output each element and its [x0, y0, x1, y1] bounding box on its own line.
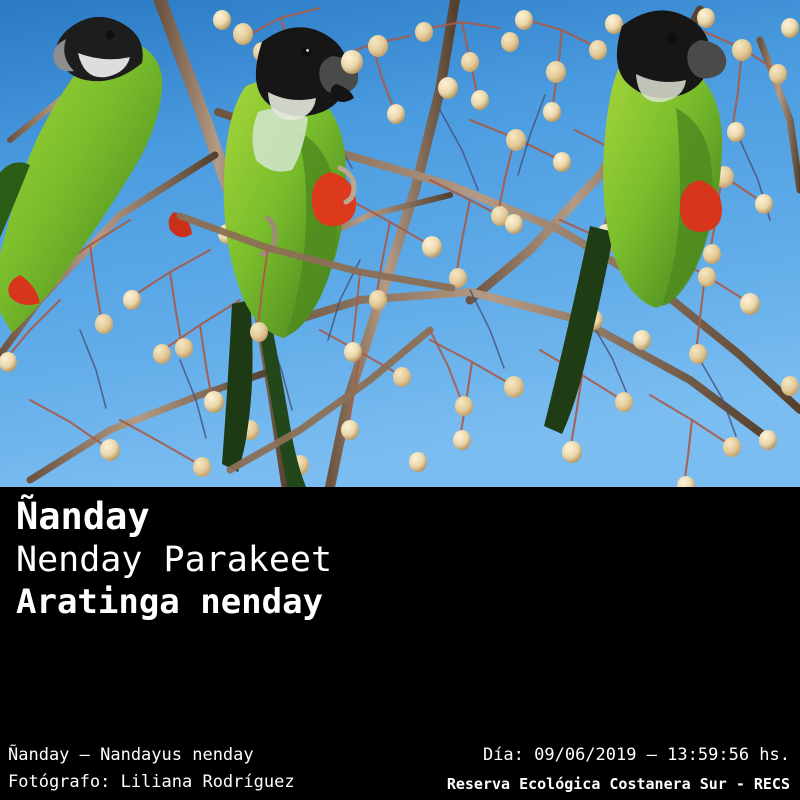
scientific-name-title: Aratinga nenday — [16, 581, 332, 623]
photo-card: Ñanday Nenday Parakeet Aratinga nenday — [0, 0, 800, 800]
title-block: Ñanday Nenday Parakeet Aratinga nenday — [16, 495, 332, 623]
bird-photograph — [0, 0, 800, 487]
english-name-subtitle: Nenday Parakeet — [16, 539, 332, 581]
footer-location-line: Reserva Ecológica Costanera Sur - RECS — [310, 774, 790, 795]
photo-illustration — [0, 0, 800, 487]
common-name-title: Ñanday — [16, 495, 332, 539]
species-banner: Ñanday Nenday Parakeet Aratinga nenday — [0, 487, 800, 800]
footer-datetime-line: Día: 09/06/2019 – 13:59:56 hs. — [310, 745, 790, 766]
